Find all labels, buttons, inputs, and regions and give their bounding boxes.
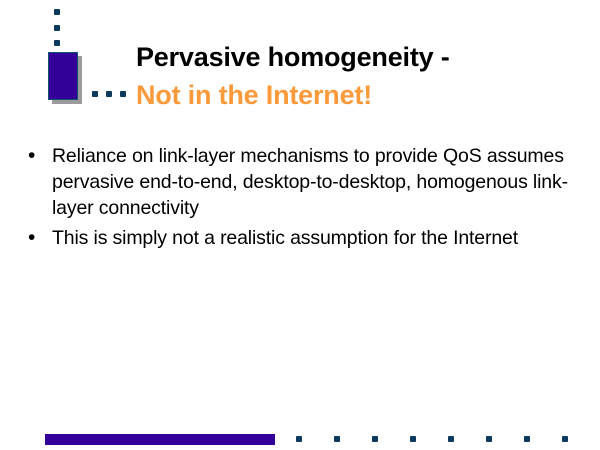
bullet-item: • This is simply not a realistic assumpt… bbox=[22, 225, 578, 251]
decorative-dot-icon bbox=[106, 91, 112, 97]
decorative-dot-icon bbox=[334, 436, 340, 442]
decorative-dot-icon bbox=[120, 91, 126, 97]
decorative-dot-icon bbox=[486, 436, 492, 442]
decorative-dot-icon bbox=[524, 436, 530, 442]
decorative-dot-icon bbox=[54, 9, 60, 15]
decorative-dot-icon bbox=[562, 436, 568, 442]
decorative-dot-icon bbox=[92, 91, 98, 97]
bullet-item: • Reliance on link-layer mechanisms to p… bbox=[22, 143, 578, 221]
decorative-dot-icon bbox=[54, 40, 60, 46]
title-line-primary: Pervasive homogeneity - bbox=[136, 38, 566, 76]
decorative-dot-icon bbox=[410, 436, 416, 442]
decorative-dot-icon bbox=[372, 436, 378, 442]
decorative-dot-icon bbox=[296, 436, 302, 442]
decorative-dot-icon bbox=[448, 436, 454, 442]
bullet-marker-icon: • bbox=[28, 225, 35, 251]
footer-bar bbox=[45, 434, 275, 445]
slide-title: Pervasive homogeneity - Not in the Inter… bbox=[136, 38, 566, 114]
bullet-marker-icon: • bbox=[28, 143, 35, 169]
logo-block bbox=[48, 52, 78, 100]
title-line-accent: Not in the Internet! bbox=[136, 76, 566, 114]
bullet-text: Reliance on link-layer mechanisms to pro… bbox=[52, 143, 578, 221]
slide-canvas: Pervasive homogeneity - Not in the Inter… bbox=[0, 0, 600, 450]
slide-body: • Reliance on link-layer mechanisms to p… bbox=[22, 143, 578, 255]
decorative-dot-icon bbox=[54, 25, 60, 31]
bullet-text: This is simply not a realistic assumptio… bbox=[52, 225, 578, 251]
